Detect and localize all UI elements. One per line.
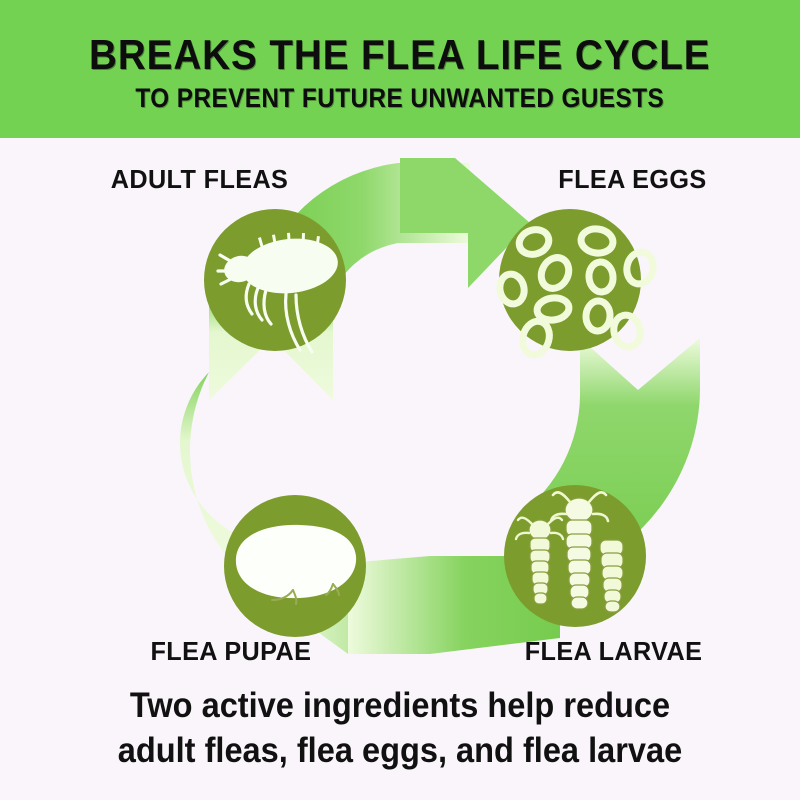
node-flea-pupae[interactable] xyxy=(224,495,366,637)
label-flea-pupae: FLEA PUPAE xyxy=(150,636,311,667)
cycle-ring-graphic xyxy=(0,138,800,678)
header-subtitle-line2: TO PREVENT FUTURE UNWANTED GUESTS xyxy=(136,85,665,112)
caption-line1: Two active ingredients help reduce xyxy=(28,684,772,729)
node-flea-larvae[interactable] xyxy=(504,485,646,627)
label-flea-eggs: FLEA EGGS xyxy=(558,164,706,195)
node-flea-eggs[interactable] xyxy=(497,209,656,358)
label-adult-fleas: ADULT FLEAS xyxy=(111,164,289,195)
infographic-canvas: BREAKS THE FLEA LIFE CYCLE TO PREVENT FU… xyxy=(0,0,800,800)
label-flea-larvae: FLEA LARVAE xyxy=(525,636,703,667)
node-adult-fleas[interactable] xyxy=(204,209,346,352)
flea-life-cycle-diagram: ADULT FLEAS FLEA EGGS FLEA LARVAE FLEA P… xyxy=(0,138,800,678)
header-title-line1: BREAKS THE FLEA LIFE CYCLE xyxy=(89,34,710,76)
header-banner: BREAKS THE FLEA LIFE CYCLE TO PREVENT FU… xyxy=(0,0,800,138)
caption-line2: adult fleas, flea eggs, and flea larvae xyxy=(28,729,772,774)
caption-block: Two active ingredients help reduce adult… xyxy=(28,684,772,774)
